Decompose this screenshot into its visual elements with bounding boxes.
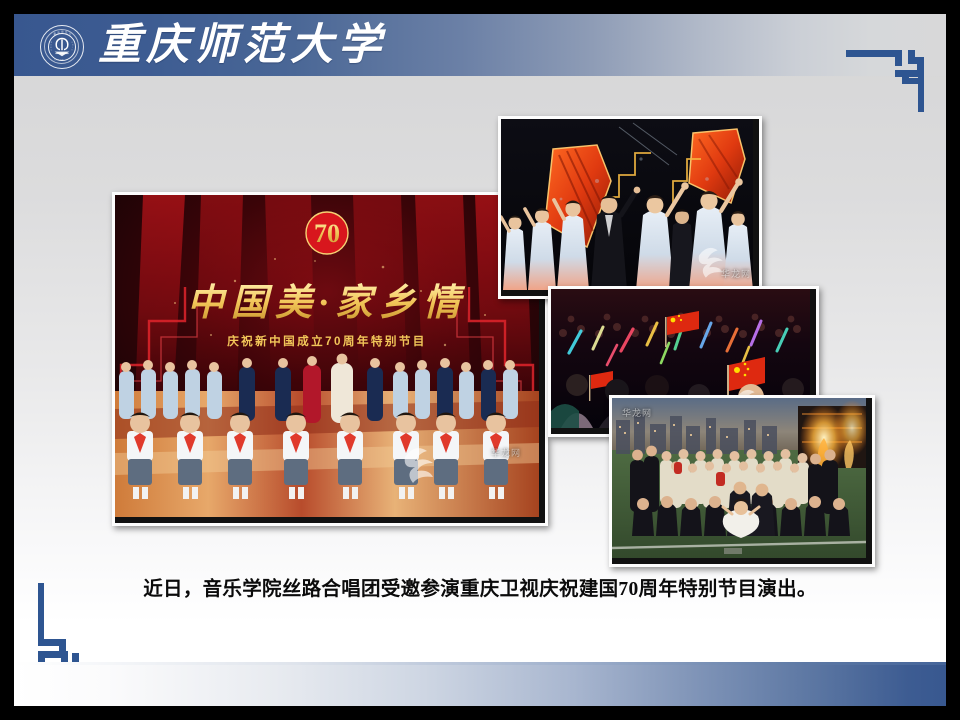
svg-text:70: 70 [314,219,340,248]
corner-ornament-top-right [846,24,930,117]
slide-header: 重庆 师范 大 CH ON UN IV N O R M A L 重庆师范大学 [14,14,946,76]
svg-text:N O R M A L: N O R M A L [54,58,65,61]
stage-subtitle-text: 庆祝新中国成立70周年特别节目 [226,334,427,348]
slide-caption: 近日，音乐学院丝路合唱团受邀参演重庆卫视庆祝建国70周年特别节目演出。 [74,572,886,601]
slide-canvas: 重庆 师范 大 CH ON UN IV N O R M A L 重庆师范大学 [14,14,946,706]
stage-title-text: 中国美·家乡情 [187,282,467,324]
svg-text:O: O [50,44,52,46]
svg-text:庆: 庆 [58,30,61,34]
svg-text:大: 大 [69,32,72,36]
photo-performers: 华龙网 [498,116,762,299]
photo-main-stage: 70 中国美·家乡情 庆祝新中国成立70周年特别节目 [112,192,548,526]
svg-text:C: C [51,50,53,52]
university-seal-icon: 重庆 师范 大 CH ON UN IV N O R M A L [40,25,84,69]
svg-text:V: V [71,50,73,52]
footer-top-line [14,662,946,665]
svg-text:师: 师 [61,30,64,34]
photo-group: 华龙网 [609,395,875,567]
university-name: 重庆师范大学 [98,18,386,74]
svg-text:重: 重 [54,32,57,36]
svg-text:范: 范 [65,30,68,34]
slide-footer-bar [14,662,946,706]
svg-text:N: N [51,42,53,44]
